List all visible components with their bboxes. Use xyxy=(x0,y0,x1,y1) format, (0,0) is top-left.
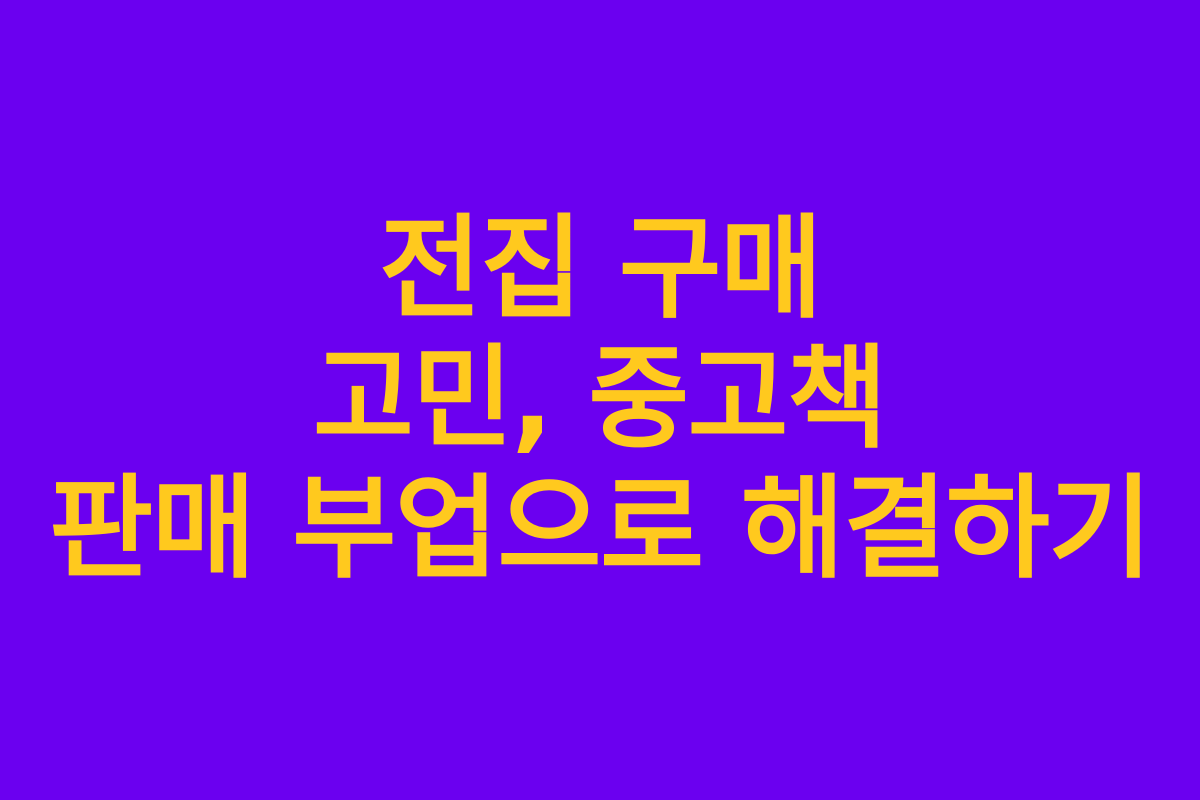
headline-line-2: 고민, 중고책 xyxy=(314,343,887,455)
headline-line-3: 판매 부업으로 해결하기 xyxy=(49,473,1151,585)
headline-line-1: 전집 구매 xyxy=(379,213,821,325)
headline-block: 전집 구매 고민, 중고책 판매 부업으로 해결하기 xyxy=(0,213,1200,585)
thumbnail-banner: 전집 구매 고민, 중고책 판매 부업으로 해결하기 xyxy=(0,0,1200,800)
